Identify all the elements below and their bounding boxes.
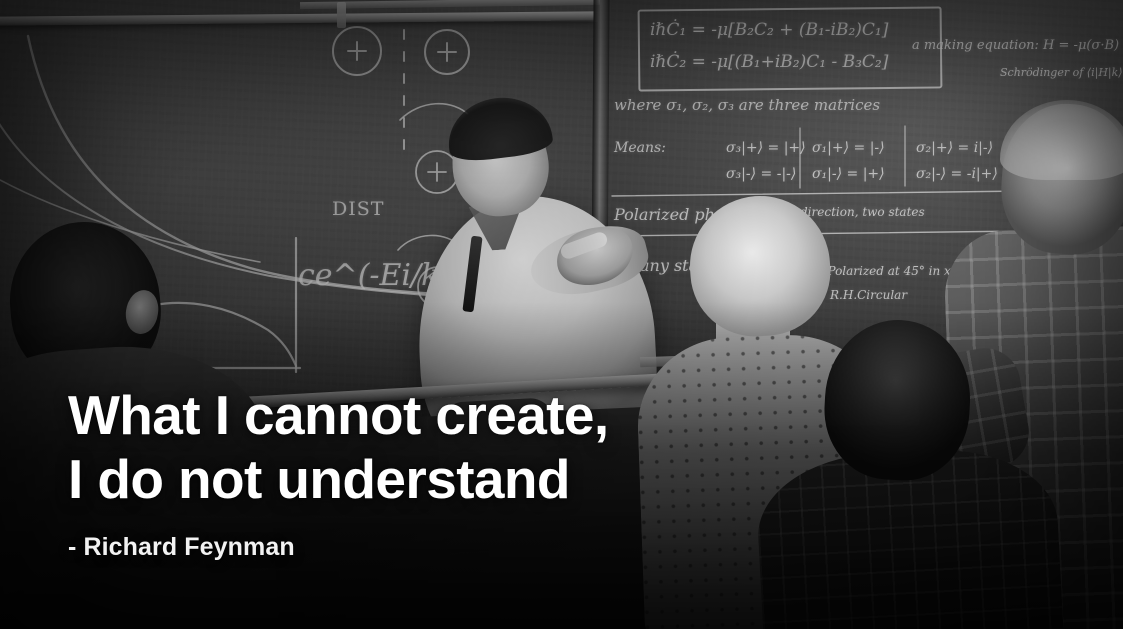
quote-image: iℏĊ₁ = -μ[B₂C₂ + (B₁-iB₂)C₁] iℏĊ₂ = -μ[(…: [0, 0, 1123, 629]
quote-line-2: I do not understand: [68, 447, 768, 511]
quote-attribution: - Richard Feynman: [68, 533, 768, 562]
quote-block: What I cannot create, I do not understan…: [68, 383, 768, 562]
quote-text: What I cannot create, I do not understan…: [68, 383, 768, 511]
quote-line-1: What I cannot create,: [68, 383, 768, 447]
